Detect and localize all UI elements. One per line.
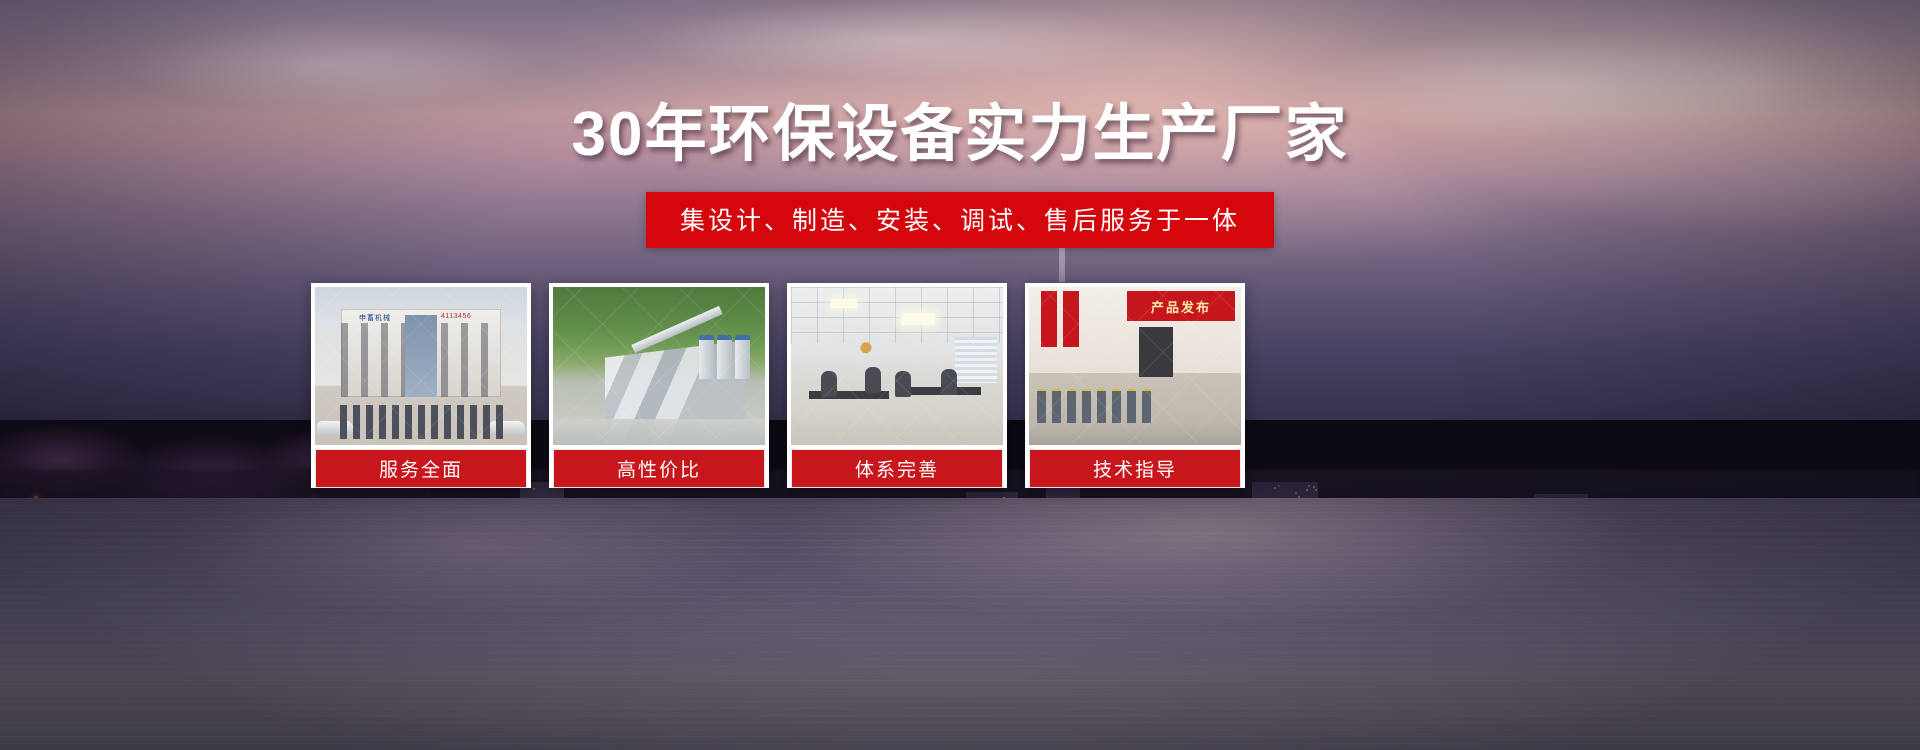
- banner-subtitle-bar: 集设计、制造、安装、调试、售后服务于一体: [646, 192, 1274, 248]
- feature-card[interactable]: 产品发布 技术指导: [1025, 283, 1245, 488]
- banner-headline: 30年环保设备实力生产厂家: [0, 104, 1920, 166]
- feature-card[interactable]: 高性价比: [549, 283, 769, 488]
- photo-watermark: [1029, 287, 1241, 445]
- photo-watermark: [315, 287, 527, 445]
- feature-card[interactable]: 体系完善: [787, 283, 1007, 488]
- photo-watermark: [791, 287, 1003, 445]
- feature-card-label: 体系完善: [791, 449, 1003, 488]
- aerial-industrial-plant-photo: [553, 287, 765, 445]
- feature-card-label: 服务全面: [315, 449, 527, 488]
- office-interior-team-photo: [791, 287, 1003, 445]
- feature-card-label: 技术指导: [1029, 449, 1241, 488]
- photo-watermark: [553, 287, 765, 445]
- company-office-building-with-staff-photo: 申蓄机械 4113456: [315, 287, 527, 445]
- hero-banner: 30年环保设备实力生产厂家 集设计、制造、安装、调试、售后服务于一体 申蓄机械 …: [0, 0, 1920, 750]
- factory-workers-with-banner-photo: 产品发布: [1029, 287, 1241, 445]
- feature-card[interactable]: 申蓄机械 4113456 服务全面: [311, 283, 531, 488]
- feature-card-label: 高性价比: [553, 449, 765, 488]
- banner-subtitle-wrapper: 集设计、制造、安装、调试、售后服务于一体: [0, 192, 1920, 248]
- feature-card-list: 申蓄机械 4113456 服务全面 高性价比: [311, 283, 1245, 488]
